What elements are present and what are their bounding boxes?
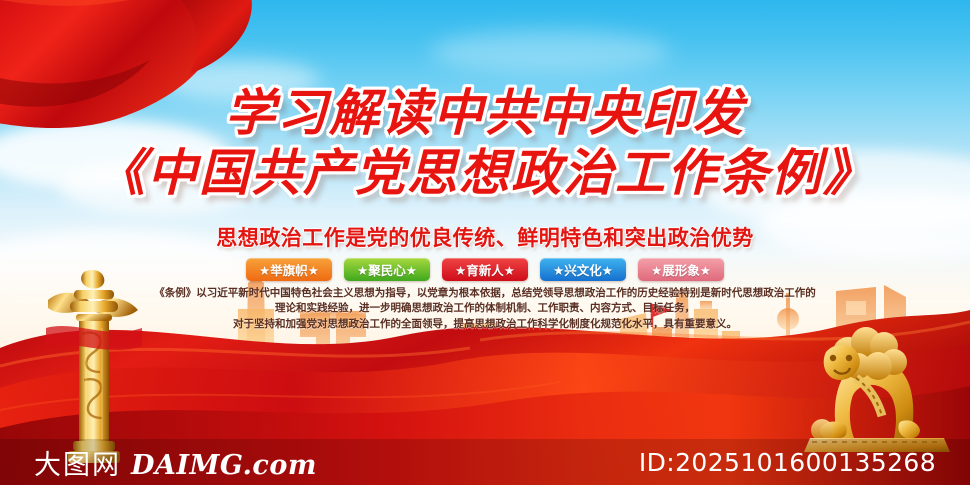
title-line-1: 学习解读中共中央印发: [0, 88, 970, 138]
slogan-badge-5[interactable]: ★展形象★: [638, 258, 724, 281]
brand-name-cn: 大图网: [34, 443, 121, 482]
slogan-badge-3[interactable]: ★育新人★: [442, 258, 528, 281]
slogan-badge-row: ★举旗帜★ ★聚民心★ ★育新人★ ★兴文化★ ★展形象★: [0, 258, 970, 281]
brand-name-en: DAIMG.com: [131, 450, 317, 481]
brand-watermark: 大图网 DAIMG.com: [34, 443, 317, 482]
title-line-2: 《中国共产党思想政治工作条例》: [0, 148, 970, 198]
paragraph-line-2: 理论和实践经验，进一步明确思想政治工作的体制机制、工作职责、内容方式、目标任务，: [0, 301, 970, 316]
watermark-bar: 大图网 DAIMG.com ID:2025101600135268: [0, 439, 970, 485]
asset-id-label: ID:2025101600135268: [639, 448, 936, 477]
poster-canvas: 学习解读中共中央印发 《中国共产党思想政治工作条例》 思想政治工作是党的优良传统…: [0, 0, 970, 485]
paragraph-line-1: 《条例》以习近平新时代中国特色社会主义思想为指导，以党章为根本依据，总结党领导思…: [0, 286, 970, 301]
slogan-badge-2[interactable]: ★聚民心★: [344, 258, 430, 281]
poster-subtitle: 思想政治工作是党的优良传统、鲜明特色和突出政治优势: [0, 222, 970, 252]
slogan-badge-4[interactable]: ★兴文化★: [540, 258, 626, 281]
slogan-badge-1[interactable]: ★举旗帜★: [246, 258, 332, 281]
poster-paragraph: 《条例》以习近平新时代中国特色社会主义思想为指导，以党章为根本依据，总结党领导思…: [0, 286, 970, 332]
poster-content: 学习解读中共中央印发 《中国共产党思想政治工作条例》 思想政治工作是党的优良传统…: [0, 0, 970, 485]
paragraph-line-3: 对于坚持和加强党对思想政治工作的全面领导，提高思想政治工作科学化制度化规范化水平…: [0, 317, 970, 332]
poster-title: 学习解读中共中央印发 《中国共产党思想政治工作条例》: [0, 88, 970, 198]
